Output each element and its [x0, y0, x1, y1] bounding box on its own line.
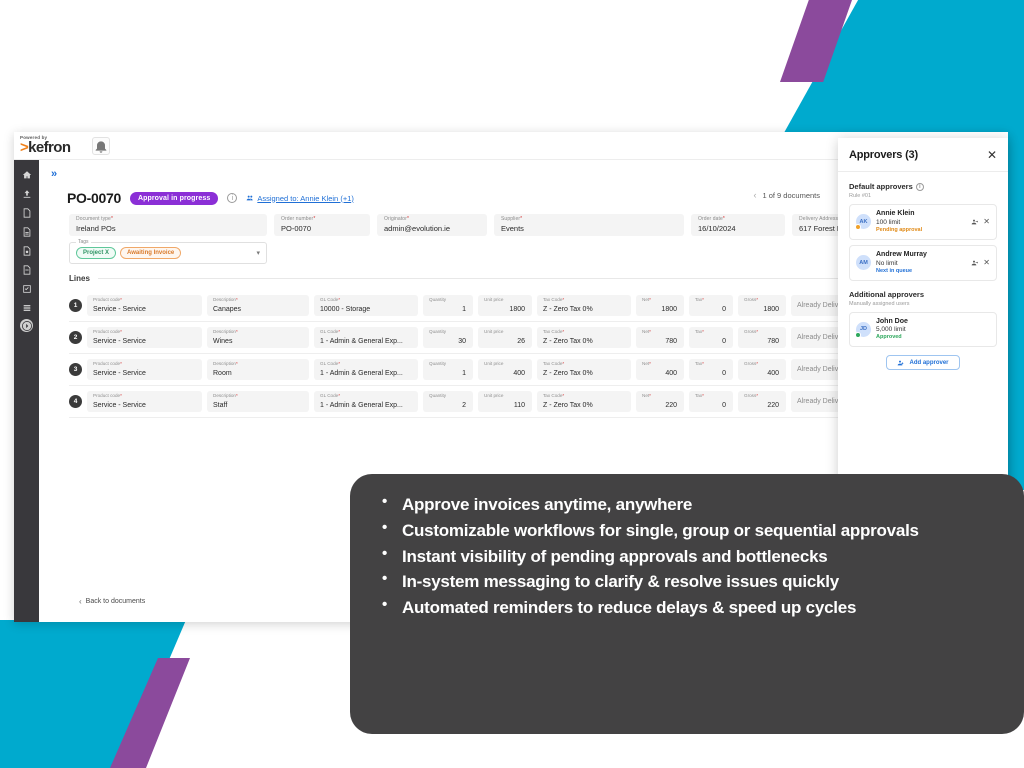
bell-icon[interactable]	[92, 137, 110, 155]
approver-state: Approved	[876, 334, 990, 341]
approver-limit: No limit	[876, 260, 966, 268]
approver-card[interactable]: AM Andrew Murray No limit Next in queue …	[849, 245, 997, 281]
feature-bullets-list: Approve invoices anytime, anywhere Custo…	[376, 492, 998, 621]
delivery-address-label: Delivery Address	[799, 216, 838, 222]
row-number: 3	[69, 363, 82, 376]
logo-chevron-icon: >	[20, 139, 28, 156]
approver-name: Andrew Murray	[876, 251, 966, 260]
assigned-to-label: Assigned to: Annie Klein (+1)	[257, 194, 354, 203]
description-cell[interactable]: Description* Wines	[207, 327, 309, 348]
unit-price-cell[interactable]: Unit price 110	[478, 391, 532, 412]
approver-card[interactable]: JD John Doe 5,000 limit Approved	[849, 312, 997, 348]
row-number: 2	[69, 331, 82, 344]
approver-limit: 100 limit	[876, 219, 966, 227]
page-title: PO-0070	[67, 190, 121, 206]
unit-price-cell[interactable]: Unit price 400	[478, 359, 532, 380]
tax-value-cell[interactable]: Tax* 0	[689, 359, 733, 380]
status-dot-approved	[855, 332, 861, 338]
originator-value: admin@evolution.ie	[384, 224, 450, 233]
back-to-documents-label: Back to documents	[86, 598, 146, 605]
approver-name: John Doe	[876, 318, 990, 327]
quantity-cell[interactable]: Quantity 2	[423, 391, 473, 412]
gl-code-cell[interactable]: GL Code* 1 - Admin & General Exp...	[314, 359, 418, 380]
approver-state: Next in queue	[876, 268, 966, 275]
order-number-label: Order number*	[281, 216, 315, 222]
chevron-left-icon[interactable]: ‹	[753, 190, 756, 200]
originator-label: Originator*	[384, 216, 409, 222]
checklist-icon[interactable]	[19, 281, 35, 296]
approvers-panel: Approvers (3) ✕ Default approvers i Rule…	[838, 138, 1008, 488]
pager-text: 1 of 9 documents	[762, 191, 820, 200]
row-number: 1	[69, 299, 82, 312]
approver-info: Annie Klein 100 limit Pending approval	[876, 210, 966, 234]
status-badge: Approval in progress	[130, 192, 218, 205]
document-icon[interactable]	[19, 205, 35, 220]
order-date-field[interactable]: Order date* 16/10/2024	[691, 214, 785, 236]
avatar: JD	[856, 322, 871, 337]
net-cell[interactable]: Net* 400	[636, 359, 684, 380]
gross-cell[interactable]: Gross* 400	[738, 359, 786, 380]
additional-approvers-label: Additional approvers	[849, 290, 924, 299]
gl-code-cell[interactable]: GL Code* 1 - Admin & General Exp...	[314, 327, 418, 348]
document-pager: ‹ 1 of 9 documents	[753, 190, 820, 200]
order-number-field[interactable]: Order number* PO-0070	[274, 214, 370, 236]
approvers-panel-header: Approvers (3) ✕	[838, 138, 1008, 172]
document-type-value: Ireland POs	[76, 224, 116, 233]
file-search-icon[interactable]	[19, 262, 35, 277]
users-icon	[246, 194, 254, 202]
add-user-icon	[897, 359, 905, 367]
chevron-left-icon: ‹	[79, 597, 82, 606]
product-code-cell[interactable]: Product code* Service - Service	[87, 391, 202, 412]
unit-price-cell[interactable]: Unit price 1800	[478, 295, 532, 316]
list-item: Approve invoices anytime, anywhere	[376, 492, 998, 518]
document-type-label: Document type*	[76, 216, 113, 222]
gross-cell[interactable]: Gross* 220	[738, 391, 786, 412]
approver-info: Andrew Murray No limit Next in queue	[876, 251, 966, 275]
order-date-value: 16/10/2024	[698, 224, 736, 233]
home-icon[interactable]	[19, 167, 35, 182]
avatar-initials: AM	[859, 260, 868, 266]
avatar-initials: JD	[860, 326, 867, 332]
approver-state: Pending approval	[876, 227, 966, 234]
product-code-cell[interactable]: Product code* Service - Service	[87, 295, 202, 316]
approver-card[interactable]: AK Annie Klein 100 limit Pending approva…	[849, 204, 997, 240]
avatar: AK	[856, 214, 871, 229]
status-dot-pending	[855, 224, 861, 230]
add-approver-button[interactable]: Add approver	[886, 355, 960, 370]
approver-actions: ✕	[971, 258, 990, 267]
product-code-cell[interactable]: Product code* Service - Service	[87, 359, 202, 380]
list-item: In-system messaging to clarify & resolve…	[376, 569, 998, 595]
net-cell[interactable]: Net* 780	[636, 327, 684, 348]
kefron-logo: Powered by >kefron	[20, 136, 70, 156]
tax-code-cell[interactable]: Tax Code* Z - Zero Tax 0%	[537, 391, 631, 412]
arrow-circle-icon[interactable]	[20, 319, 33, 332]
assigned-to-link[interactable]: Assigned to: Annie Klein (+1)	[246, 194, 354, 203]
default-approvers-heading: Default approvers i	[849, 182, 997, 191]
file-text-icon[interactable]	[19, 224, 35, 239]
gl-code-cell[interactable]: GL Code* 1 - Admin & General Exp...	[314, 391, 418, 412]
product-code-cell[interactable]: Product code* Service - Service	[87, 327, 202, 348]
list-item: Instant visibility of pending approvals …	[376, 544, 998, 570]
supplier-value: Events	[501, 224, 524, 233]
net-cell[interactable]: Net* 1800	[636, 295, 684, 316]
approver-limit: 5,000 limit	[876, 326, 990, 334]
supplier-label: Supplier*	[501, 216, 522, 222]
approvers-panel-title: Approvers (3)	[849, 149, 918, 161]
list-icon[interactable]	[19, 300, 35, 315]
default-approvers-rule: Rule #01	[849, 193, 997, 199]
unit-price-cell[interactable]: Unit price 26	[478, 327, 532, 348]
tax-value-cell[interactable]: Tax* 0	[689, 327, 733, 348]
list-item: Customizable workflows for single, group…	[376, 518, 998, 544]
gl-code-cell[interactable]: GL Code* 10000 - Storage	[314, 295, 418, 316]
net-cell[interactable]: Net* 220	[636, 391, 684, 412]
row-number: 4	[69, 395, 82, 408]
approver-name: Annie Klein	[876, 210, 966, 219]
logo-name: kefron	[28, 139, 70, 156]
close-icon[interactable]: ✕	[987, 149, 997, 161]
tax-code-cell[interactable]: Tax Code* Z - Zero Tax 0%	[537, 327, 631, 348]
order-number-value: PO-0070	[281, 224, 311, 233]
remove-approver-icon[interactable]: ✕	[983, 258, 990, 267]
user-switch-icon[interactable]	[971, 259, 979, 267]
add-approver-label: Add approver	[909, 360, 948, 366]
description-cell[interactable]: Description* Canapes	[207, 295, 309, 316]
back-to-documents-link[interactable]: ‹ Back to documents	[79, 597, 145, 606]
tag-chip[interactable]: Awaiting Invoice	[120, 247, 181, 259]
quantity-cell[interactable]: Quantity 1	[423, 359, 473, 380]
avatar: AM	[856, 255, 871, 270]
tax-value-cell[interactable]: Tax* 0	[689, 295, 733, 316]
description-cell[interactable]: Description* Staff	[207, 391, 309, 412]
originator-field[interactable]: Originator* admin@evolution.ie	[377, 214, 487, 236]
approver-info: John Doe 5,000 limit Approved	[876, 318, 990, 342]
feature-bullets-overlay: Approve invoices anytime, anywhere Custo…	[350, 474, 1024, 734]
chevron-double-right-icon[interactable]: »	[51, 168, 57, 180]
tags-label: Tags	[76, 239, 91, 245]
user-switch-icon[interactable]	[971, 218, 979, 226]
gross-cell[interactable]: Gross* 780	[738, 327, 786, 348]
document-type-field[interactable]: Document type* Ireland POs	[69, 214, 267, 236]
info-icon[interactable]: i	[227, 193, 237, 203]
default-approvers-label: Default approvers	[849, 182, 913, 191]
avatar-initials: AK	[860, 219, 868, 225]
upload-icon[interactable]	[19, 186, 35, 201]
supplier-field[interactable]: Supplier* Events	[494, 214, 684, 236]
lines-section-title: Lines	[69, 274, 90, 283]
slide-canvas: Powered by >kefron	[0, 0, 1024, 768]
chevron-down-icon[interactable]: ▾	[256, 249, 260, 257]
approver-actions: ✕	[971, 217, 990, 226]
order-date-label: Order date*	[698, 216, 725, 222]
remove-approver-icon[interactable]: ✕	[983, 217, 990, 226]
tax-value-cell[interactable]: Tax* 0	[689, 391, 733, 412]
info-icon[interactable]: i	[916, 183, 924, 191]
tax-code-cell[interactable]: Tax Code* Z - Zero Tax 0%	[537, 359, 631, 380]
logo-wordmark: >kefron	[20, 140, 70, 155]
quantity-cell[interactable]: Quantity 1	[423, 295, 473, 316]
file-copy-icon[interactable]	[19, 243, 35, 258]
tags-field[interactable]: Tags Project X Awaiting Invoice ▾	[69, 242, 267, 264]
left-nav-rail	[14, 160, 39, 622]
gross-cell[interactable]: Gross* 1800	[738, 295, 786, 316]
approvers-panel-body: Default approvers i Rule #01 AK Annie Kl…	[838, 172, 1008, 380]
tag-chip[interactable]: Project X	[76, 247, 116, 259]
quantity-cell[interactable]: Quantity 30	[423, 327, 473, 348]
additional-approvers-heading: Additional approvers	[849, 290, 997, 299]
tax-code-cell[interactable]: Tax Code* Z - Zero Tax 0%	[537, 295, 631, 316]
description-cell[interactable]: Description* Room	[207, 359, 309, 380]
list-item: Automated reminders to reduce delays & s…	[376, 595, 998, 621]
additional-approvers-subtitle: Manually assigned users	[849, 301, 997, 307]
